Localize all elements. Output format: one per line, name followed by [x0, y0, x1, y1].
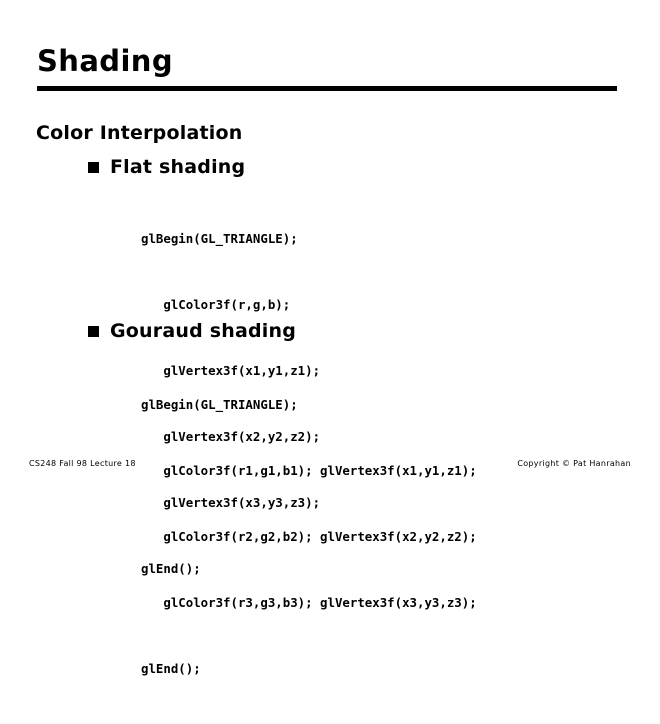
slide-canvas: Shading Color Interpolation Flat shading…	[0, 0, 660, 510]
section-heading: Color Interpolation	[36, 121, 242, 145]
bullet-item-flat-shading: Flat shading	[88, 156, 245, 179]
code-line: glBegin(GL_TRIANGLE);	[141, 228, 320, 250]
title-divider	[37, 86, 617, 91]
code-line: glBegin(GL_TRIANGLE);	[141, 394, 477, 416]
bullet-item-gouraud-shading: Gouraud shading	[88, 320, 296, 343]
footer-copyright: Copyright © Pat Hanrahan	[517, 459, 631, 468]
code-line: glColor3f(r3,g3,b3); glVertex3f(x3,y3,z3…	[141, 592, 477, 614]
footer-course-info: CS248 Fall 98 Lecture 18	[29, 459, 136, 468]
code-block-gouraud-shading: glBegin(GL_TRIANGLE); glColor3f(r1,g1,b1…	[141, 350, 477, 724]
bullet-label-flat-shading: Flat shading	[110, 156, 245, 179]
code-line: glEnd();	[141, 658, 477, 680]
bullet-label-gouraud-shading: Gouraud shading	[110, 320, 296, 343]
square-bullet-icon	[88, 162, 99, 173]
square-bullet-icon	[88, 326, 99, 337]
code-line: glColor3f(r2,g2,b2); glVertex3f(x2,y2,z2…	[141, 526, 477, 548]
code-line: glColor3f(r,g,b);	[141, 294, 320, 316]
code-line: glColor3f(r1,g1,b1); glVertex3f(x1,y1,z1…	[141, 460, 477, 482]
page-title: Shading	[37, 44, 173, 78]
